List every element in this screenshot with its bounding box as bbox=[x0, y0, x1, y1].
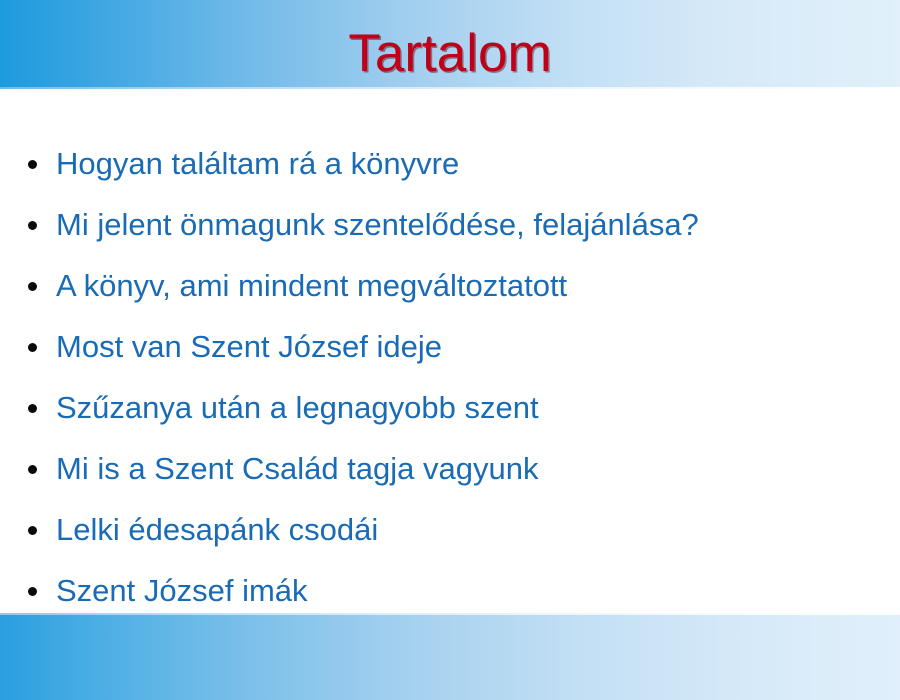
list-item-label: Szent József imák bbox=[56, 574, 308, 608]
list-item[interactable]: Szent József imák bbox=[0, 560, 900, 621]
list-item[interactable]: Mi jelent önmagunk szentelődése, felaján… bbox=[0, 194, 900, 255]
list-item-label: Hogyan találtam rá a könyvre bbox=[56, 147, 459, 181]
list-item-label: Mi is a Szent Család tagja vagyunk bbox=[56, 452, 538, 486]
disc-bullet-icon bbox=[28, 343, 37, 352]
list-item-label: Szűzanya után a legnagyobb szent bbox=[56, 391, 539, 425]
list-item[interactable]: Hogyan találtam rá a könyvre bbox=[0, 133, 900, 194]
disc-bullet-icon bbox=[28, 221, 37, 230]
disc-bullet-icon bbox=[28, 465, 37, 474]
list-item[interactable]: Lelki édesapánk csodái bbox=[0, 499, 900, 560]
list-item-label: Lelki édesapánk csodái bbox=[56, 513, 378, 547]
disc-bullet-icon bbox=[28, 587, 37, 596]
list-item-label: A könyv, ami mindent megváltoztatott bbox=[56, 269, 567, 303]
presentation-slide: Tartalom Hogyan találtam rá a könyvre Mi… bbox=[0, 0, 900, 700]
list-item[interactable]: A könyv, ami mindent megváltoztatott bbox=[0, 255, 900, 316]
table-of-contents-list: Hogyan találtam rá a könyvre Mi jelent ö… bbox=[0, 133, 900, 621]
list-item[interactable]: Mi is a Szent Család tagja vagyunk bbox=[0, 438, 900, 499]
list-item-label: Most van Szent József ideje bbox=[56, 330, 442, 364]
disc-bullet-icon bbox=[28, 282, 37, 291]
disc-bullet-icon bbox=[28, 404, 37, 413]
page-title: Tartalom bbox=[0, 24, 900, 84]
footer-gradient-band bbox=[0, 613, 900, 700]
disc-bullet-icon bbox=[28, 526, 37, 535]
list-item[interactable]: Most van Szent József ideje bbox=[0, 316, 900, 377]
list-item[interactable]: Szűzanya után a legnagyobb szent bbox=[0, 377, 900, 438]
list-item-label: Mi jelent önmagunk szentelődése, felaján… bbox=[56, 208, 699, 242]
disc-bullet-icon bbox=[28, 160, 37, 169]
